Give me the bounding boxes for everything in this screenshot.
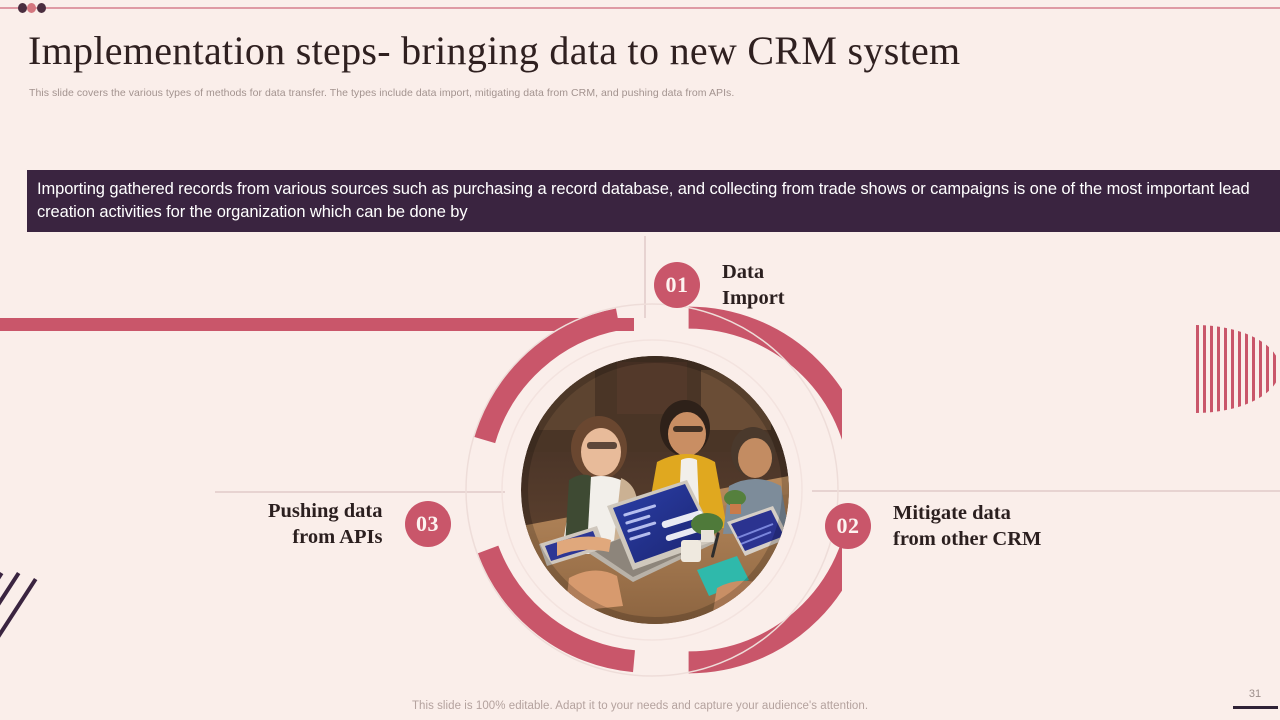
step-badge-03: 03 (405, 501, 451, 547)
step-item-03[interactable]: Pushing data from APIs 03 (268, 498, 451, 550)
step-label-01: Data Import (722, 259, 785, 311)
description-banner-text: Importing gathered records from various … (37, 178, 1265, 224)
team-meeting-photo-illustration (521, 356, 789, 624)
striped-半circle-decoration (1196, 325, 1280, 413)
dot-1-icon (18, 3, 27, 13)
page-number-rule (1233, 706, 1278, 709)
step-label-02: Mitigate data from other CRM (893, 500, 1041, 552)
diagonal-line-3 (0, 578, 37, 720)
diagonal-line-2 (0, 572, 20, 720)
top-rule-divider (0, 7, 1280, 9)
page-subtitle: This slide covers the various types of m… (29, 86, 1029, 100)
diagonal-lines-decoration (0, 560, 170, 720)
page-title: Implementation steps- bringing data to n… (28, 25, 1128, 77)
dot-3-icon (37, 3, 46, 13)
connector-line-step-02 (812, 490, 1280, 492)
page-number: 31 (1240, 688, 1270, 700)
top-left-dots-decoration (18, 2, 52, 15)
slide-root: Implementation steps- bringing data to n… (0, 0, 1280, 720)
dot-2-icon (27, 3, 36, 13)
description-banner: Importing gathered records from various … (27, 170, 1280, 232)
step-label-03: Pushing data from APIs (268, 498, 383, 550)
striped-arc-shape (1196, 325, 1280, 413)
step-item-01[interactable]: 01 Data Import (654, 259, 785, 311)
step-badge-01: 01 (654, 262, 700, 308)
step-item-02[interactable]: 02 Mitigate data from other CRM (825, 500, 1041, 552)
center-photo (521, 356, 789, 624)
footer-note: This slide is 100% editable. Adapt it to… (0, 700, 1280, 712)
step-badge-02: 02 (825, 503, 871, 549)
